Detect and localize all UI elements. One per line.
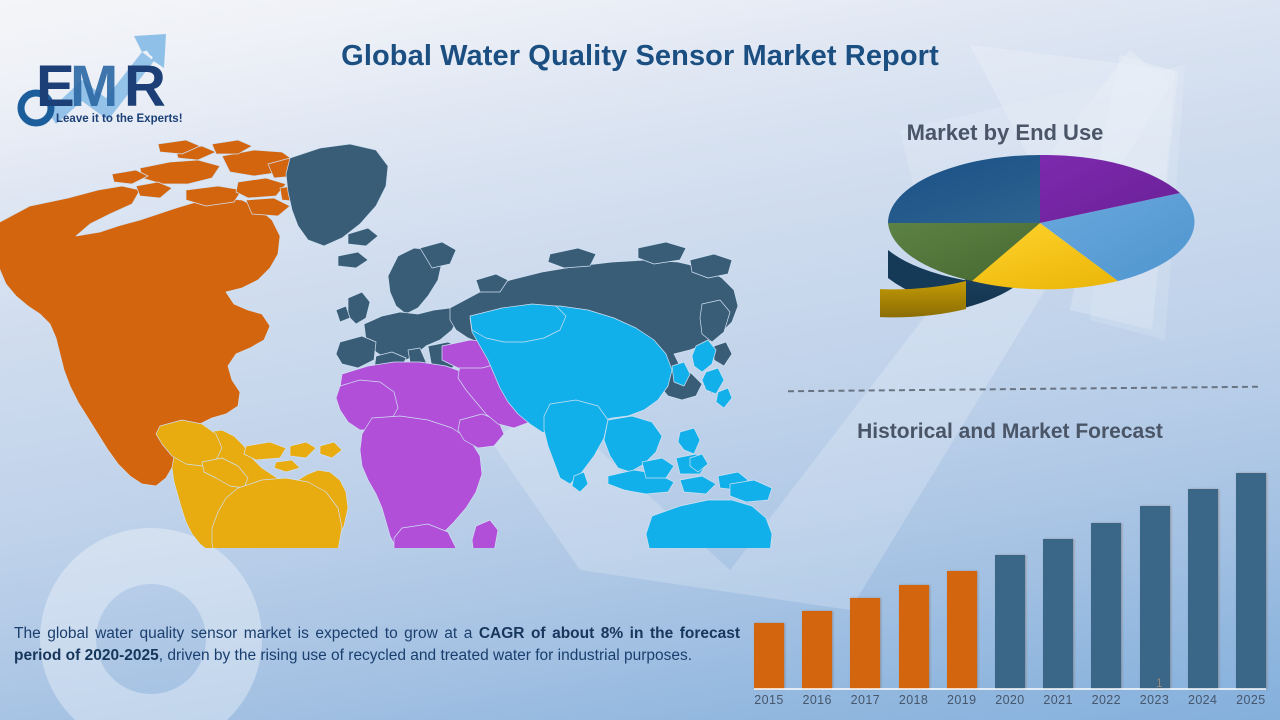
year-label: 2020 — [995, 693, 1025, 707]
forecast-axis-line — [754, 688, 1266, 690]
bar-slot — [995, 452, 1025, 689]
bar-slot — [947, 452, 977, 689]
year-label: 2017 — [850, 693, 880, 707]
year-label: 2015 — [754, 693, 784, 707]
bar-2016[interactable] — [802, 611, 832, 689]
bar-2015[interactable] — [754, 623, 784, 689]
year-label: 2023 — [1140, 693, 1170, 707]
summary-text: The global water quality sensor market i… — [14, 623, 740, 667]
bar-2017[interactable] — [850, 598, 880, 689]
section-divider — [788, 386, 1258, 393]
map-region-latin-america — [156, 420, 348, 548]
world-map-svg — [0, 128, 780, 548]
bar-2019[interactable] — [947, 571, 977, 689]
forecast-bars — [754, 452, 1266, 689]
pie-slice-e[interactable] — [888, 155, 1040, 223]
bar-slot — [1091, 452, 1121, 689]
summary-text-part2: , driven by the rising use of recycled a… — [159, 647, 692, 664]
year-label: 2025 — [1236, 693, 1266, 707]
page-title: Global Water Quality Sensor Market Repor… — [0, 40, 1280, 73]
bar-slot — [1188, 452, 1218, 689]
world-map — [0, 128, 780, 548]
bar-2023[interactable] — [1140, 506, 1170, 689]
bar-2021[interactable] — [1043, 539, 1073, 689]
year-label: 2024 — [1188, 693, 1218, 707]
bar-slot — [754, 452, 784, 689]
pie-chart-title: Market by End Use — [790, 120, 1220, 146]
pie-slices — [888, 155, 1194, 289]
infographic-canvas: E M R Leave it to the Experts! Global Wa… — [0, 0, 1280, 720]
summary-text-part1: The global water quality sensor market i… — [14, 625, 479, 642]
year-label: 2018 — [899, 693, 929, 707]
bar-slot — [1043, 452, 1073, 689]
bar-2018[interactable] — [899, 585, 929, 689]
pie-chart-svg — [880, 155, 1200, 350]
bar-slot — [1140, 452, 1170, 689]
bar-slot — [802, 452, 832, 689]
pie-chart — [880, 155, 1200, 350]
bar-2025[interactable] — [1236, 473, 1266, 689]
year-label: 2016 — [802, 693, 832, 707]
bar-2020[interactable] — [995, 555, 1025, 689]
forecast-chart-title: Historical and Market Forecast — [790, 420, 1230, 444]
year-label: 2021 — [1043, 693, 1073, 707]
bar-slot — [1236, 452, 1266, 689]
forecast-year-labels: 2015 2016 2017 2018 2019 2020 2021 2022 … — [754, 693, 1266, 707]
bar-slot — [899, 452, 929, 689]
year-label: 2019 — [947, 693, 977, 707]
year-label: 2022 — [1091, 693, 1121, 707]
logo-tagline: Leave it to the Experts! — [56, 113, 183, 125]
bar-slot — [850, 452, 880, 689]
bar-2022[interactable] — [1091, 523, 1121, 689]
bar-2024[interactable] — [1188, 489, 1218, 689]
